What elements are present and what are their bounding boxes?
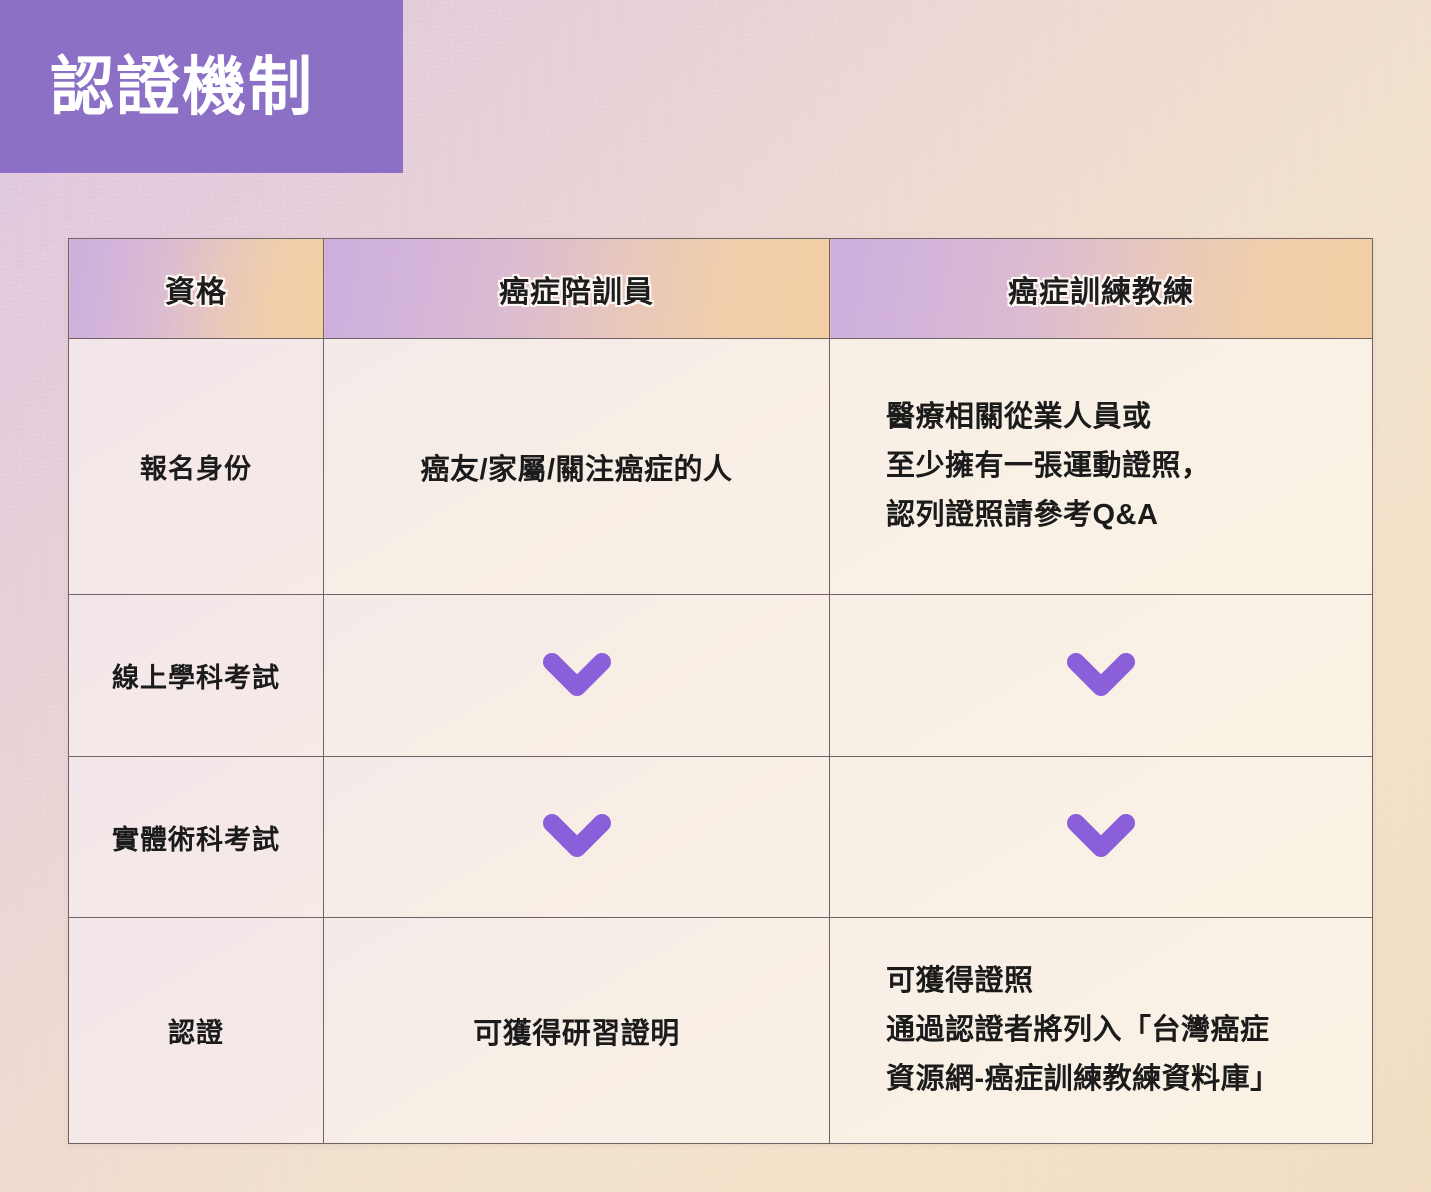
cell-text-line: 至少擁有一張運動證照， <box>886 442 1352 491</box>
cell-text-line: 認列證照請參考Q&A <box>886 491 1352 540</box>
cell-practical-exam-companion <box>324 757 830 918</box>
table-row: 線上學科考試 <box>69 595 1373 757</box>
column-header-cancer-coach-label: 癌症訓練教練 <box>1008 276 1194 309</box>
row-label-certification: 認證 <box>69 918 324 1144</box>
row-label-text: 報名身份 <box>140 454 252 484</box>
column-header-qualification-label: 資格 <box>165 276 227 309</box>
table-row: 認證 可獲得研習證明 可獲得證照 通過認證者將列入「台灣癌症 資源網-癌症訓練教… <box>69 918 1373 1144</box>
table-row: 報名身份 癌友/家屬/關注癌症的人 醫療相關從業人員或 至少擁有一張運動證照， … <box>69 339 1373 595</box>
row-label-registration-identity: 報名身份 <box>69 339 324 595</box>
cell-text: 可獲得研習證明 <box>473 1018 680 1050</box>
column-header-qualification: 資格 <box>69 239 324 339</box>
chevron-down-icon <box>324 814 829 860</box>
row-label-text: 認證 <box>168 1018 224 1048</box>
cell-registration-identity-coach: 醫療相關從業人員或 至少擁有一張運動證照， 認列證照請參考Q&A <box>830 339 1373 595</box>
cell-text-line: 醫療相關從業人員或 <box>886 393 1352 442</box>
chevron-down-icon <box>324 653 829 699</box>
cell-text-line: 通過認證者將列入「台灣癌症 <box>886 1006 1352 1055</box>
cell-online-written-exam-coach <box>830 595 1373 757</box>
cell-text-line: 可獲得證照 <box>886 957 1352 1006</box>
table-header-row: 資格 癌症陪訓員 癌症訓練教練 <box>69 239 1373 339</box>
row-label-online-written-exam: 線上學科考試 <box>69 595 324 757</box>
row-label-text: 線上學科考試 <box>112 663 280 693</box>
column-header-companion-trainer: 癌症陪訓員 <box>324 239 830 339</box>
chevron-down-icon <box>830 814 1372 860</box>
title-banner: 認證機制 <box>0 0 403 173</box>
row-label-text: 實體術科考試 <box>112 825 280 855</box>
cell-practical-exam-coach <box>830 757 1373 918</box>
cell-online-written-exam-companion <box>324 595 830 757</box>
page-title: 認證機制 <box>50 55 314 119</box>
cell-certification-coach: 可獲得證照 通過認證者將列入「台灣癌症 資源網-癌症訓練教練資料庫」 <box>830 918 1373 1144</box>
table-header: 資格 癌症陪訓員 癌症訓練教練 <box>69 239 1373 339</box>
row-label-practical-exam: 實體術科考試 <box>69 757 324 918</box>
cell-text-block: 醫療相關從業人員或 至少擁有一張運動證照， 認列證照請參考Q&A <box>830 393 1372 539</box>
cell-certification-companion: 可獲得研習證明 <box>324 918 830 1144</box>
cell-text: 癌友/家屬/關注癌症的人 <box>420 454 732 486</box>
column-header-companion-trainer-label: 癌症陪訓員 <box>499 276 654 309</box>
column-header-cancer-coach: 癌症訓練教練 <box>830 239 1373 339</box>
chevron-down-icon <box>830 653 1372 699</box>
cell-registration-identity-companion: 癌友/家屬/關注癌症的人 <box>324 339 830 595</box>
table-row: 實體術科考試 <box>69 757 1373 918</box>
table-body: 報名身份 癌友/家屬/關注癌症的人 醫療相關從業人員或 至少擁有一張運動證照， … <box>69 339 1373 1144</box>
slide-canvas: 認證機制 資格 癌症陪訓員 癌症訓練教練 報名身份 <box>0 0 1431 1192</box>
cell-text-line: 資源網-癌症訓練教練資料庫」 <box>886 1055 1352 1104</box>
cell-text-block: 可獲得證照 通過認證者將列入「台灣癌症 資源網-癌症訓練教練資料庫」 <box>830 957 1372 1103</box>
certification-comparison-table: 資格 癌症陪訓員 癌症訓練教練 報名身份 癌友/家屬/關注癌症的人 <box>68 238 1373 1144</box>
